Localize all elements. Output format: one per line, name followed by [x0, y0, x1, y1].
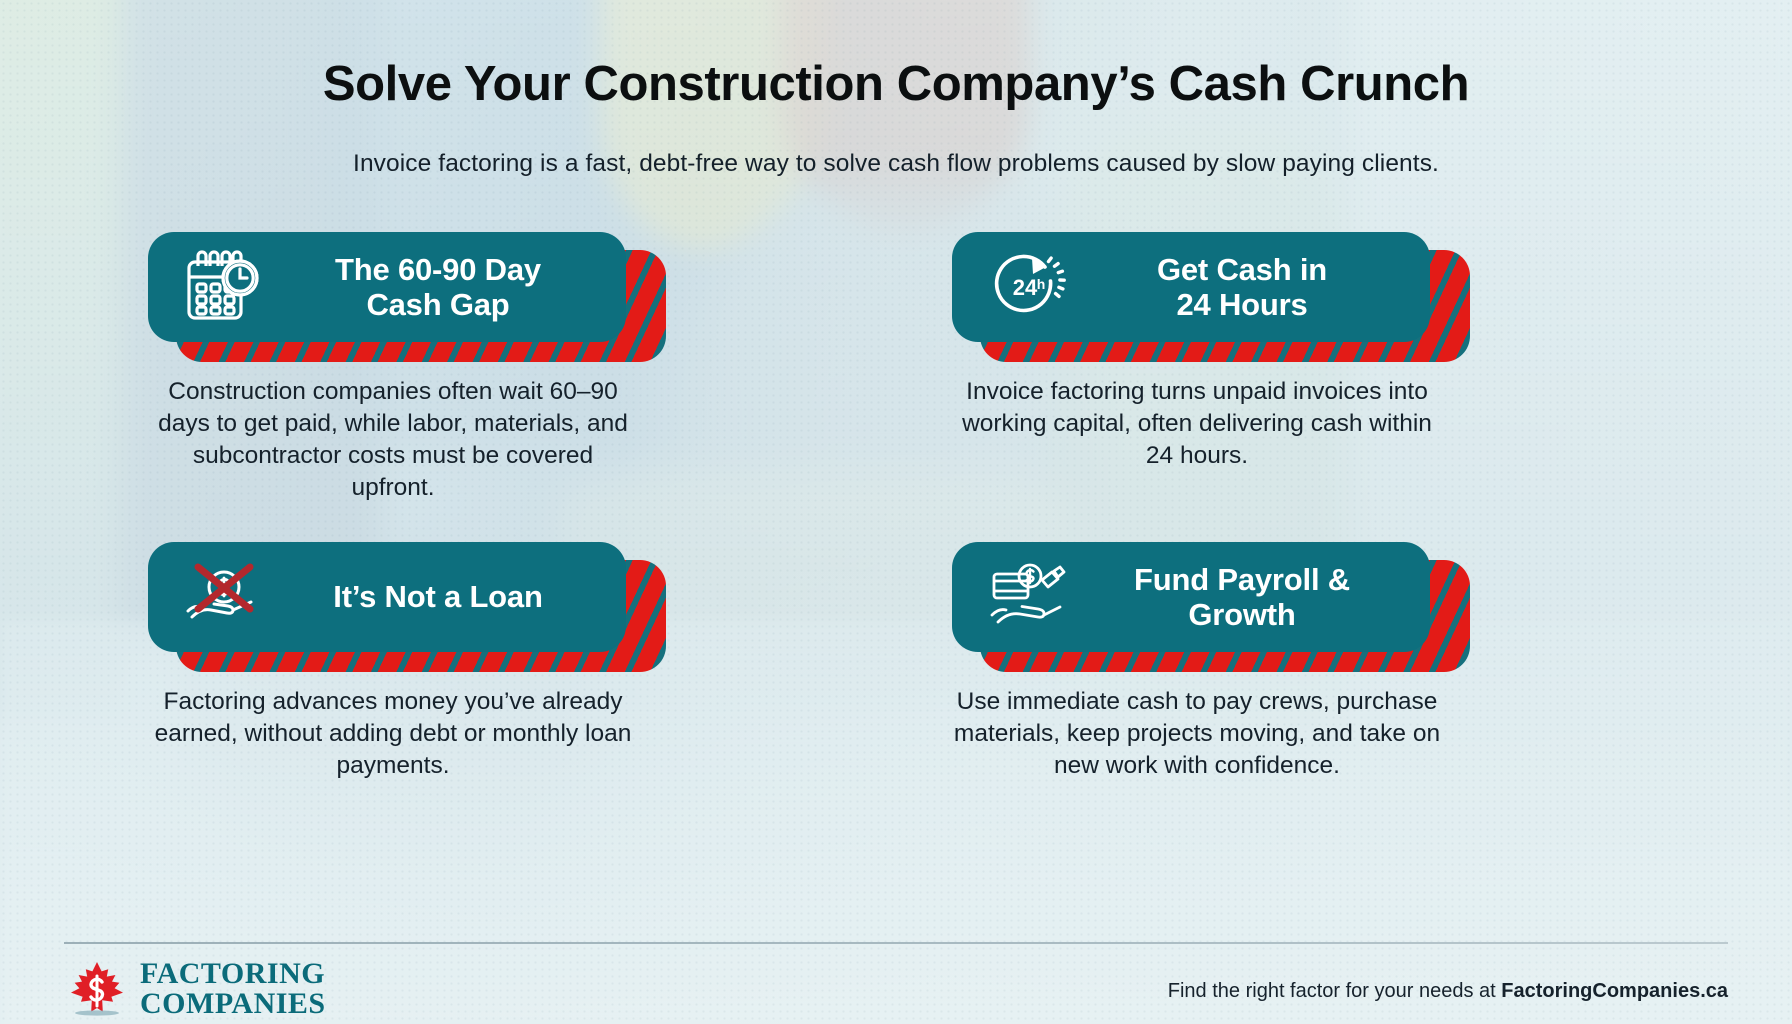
card-header-pill[interactable]: It’s Not a Loan — [148, 542, 626, 652]
card-title: Get Cash in 24 Hours — [1078, 252, 1412, 323]
card-header-pill[interactable]: Fund Payroll & Growth — [952, 542, 1430, 652]
card-header-pill[interactable]: 24 h Get Cash in 24 Hours — [952, 232, 1430, 342]
card-body: Invoice factoring turns unpaid invoices … — [952, 376, 1442, 472]
hand-money-growth-icon — [978, 560, 1078, 634]
card-cash-24-hours: 24 h Get Cash in 24 Hours Invoice factor… — [952, 232, 1512, 472]
card-body: Factoring advances money you’ve already … — [148, 686, 638, 782]
calendar-clock-icon — [174, 248, 274, 326]
footer-tagline: Find the right factor for your needs at … — [1168, 980, 1728, 1003]
infographic-poster: Solve Your Construction Company’s Cash C… — [0, 0, 1792, 1024]
svg-text:h: h — [1037, 276, 1046, 292]
no-loan-crossed-dollar-icon — [174, 561, 274, 633]
maple-leaf-dollar-icon — [66, 958, 128, 1020]
footer-divider — [64, 942, 1728, 944]
page-title: Solve Your Construction Company’s Cash C… — [0, 56, 1792, 112]
card-not-a-loan: It’s Not a Loan Factoring advances money… — [148, 542, 708, 782]
card-body: Use immediate cash to pay crews, purchas… — [952, 686, 1442, 782]
twenty-four-hour-clock-icon: 24 h — [978, 248, 1078, 326]
footer-tagline-prefix: Find the right factor for your needs at — [1168, 980, 1502, 1002]
brand-logo[interactable]: FACTORING COMPANIES — [66, 958, 326, 1020]
footer-brand-url[interactable]: FactoringCompanies.ca — [1501, 980, 1728, 1002]
card-body: Construction companies often wait 60–90 … — [148, 376, 638, 504]
card-title: It’s Not a Loan — [274, 579, 608, 614]
page-subtitle: Invoice factoring is a fast, debt-free w… — [0, 150, 1792, 178]
card-title: Fund Payroll & Growth — [1078, 562, 1412, 633]
card-header-pill[interactable]: The 60-90 Day Cash Gap — [148, 232, 626, 342]
card-title: The 60-90 Day Cash Gap — [274, 252, 608, 323]
card-cash-gap: The 60-90 Day Cash Gap Construction comp… — [148, 232, 708, 504]
brand-wordmark: FACTORING COMPANIES — [140, 959, 326, 1019]
svg-text:24: 24 — [1013, 275, 1038, 300]
card-fund-payroll-growth: Fund Payroll & Growth Use immediate cash… — [952, 542, 1512, 782]
